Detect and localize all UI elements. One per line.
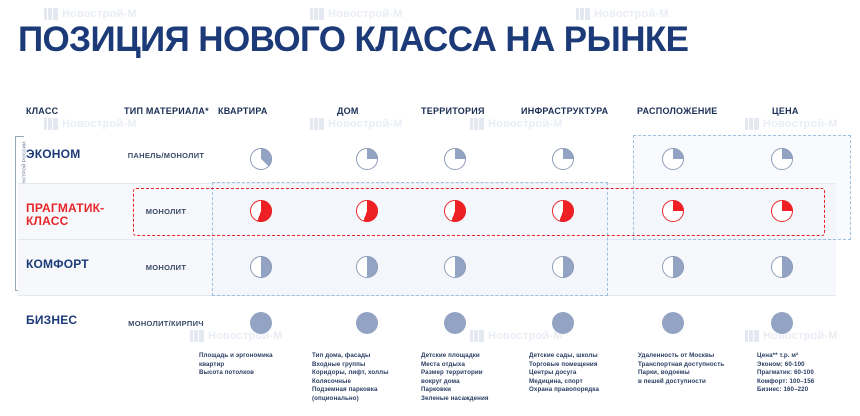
watermark-logo-icon xyxy=(190,330,204,342)
pie-ring xyxy=(771,256,793,278)
watermark-logo-icon xyxy=(470,118,484,130)
pie-ring xyxy=(771,312,793,334)
watermark-logo-icon xyxy=(745,118,759,130)
rating-komfort-territory xyxy=(444,256,466,278)
rating-biznes-location xyxy=(662,312,684,334)
row-label-komfort: КОМФОРТ xyxy=(26,258,89,271)
column-header-price: ЦЕНА xyxy=(772,106,799,116)
watermark: Новострой-М xyxy=(190,330,283,342)
pie-ring xyxy=(356,312,378,334)
watermark-logo-icon xyxy=(44,118,58,130)
rating-pragmatik-house xyxy=(356,200,378,222)
pie-ring xyxy=(552,312,574,334)
footnote-price: Цена** т.р. м² Эконом: 60-100 Прагматик:… xyxy=(757,352,857,395)
watermark: Новострой-М xyxy=(44,118,137,130)
watermark-logo-icon xyxy=(44,8,58,20)
watermark: Новострой-М xyxy=(44,8,137,20)
watermark: Новострой-М xyxy=(310,8,403,20)
rating-pragmatik-price xyxy=(771,200,793,222)
pie-ring xyxy=(662,256,684,278)
rating-ekonom-apartment xyxy=(250,148,272,170)
rating-pragmatik-apartment xyxy=(250,200,272,222)
pie-ring xyxy=(552,256,574,278)
rating-ekonom-location xyxy=(662,148,684,170)
pie-ring xyxy=(250,256,272,278)
watermark: Новострой-М xyxy=(576,8,669,20)
watermark-logo-icon xyxy=(310,118,324,130)
watermark: Новострой-М xyxy=(745,330,838,342)
pie-ring xyxy=(444,312,466,334)
row-label-pragmatik: ПРАГМАТИК- КЛАСС xyxy=(26,202,104,228)
pie-ring xyxy=(250,200,272,222)
rating-komfort-house xyxy=(356,256,378,278)
rating-komfort-infrastructure xyxy=(552,256,574,278)
watermark: Новострой-М xyxy=(470,118,563,130)
pie-ring xyxy=(771,148,793,170)
pie-ring xyxy=(444,200,466,222)
pie-ring xyxy=(662,148,684,170)
footnote-infrastructure: Детские сады, школы Торговые помещения Ц… xyxy=(529,352,639,395)
rating-biznes-apartment xyxy=(250,312,272,334)
column-header-location: РАСПОЛОЖЕНИЕ xyxy=(637,106,718,116)
pie-ring xyxy=(444,148,466,170)
column-header-house: ДОМ xyxy=(337,106,359,116)
pie-ring xyxy=(552,200,574,222)
row-divider xyxy=(18,239,836,240)
rating-ekonom-house xyxy=(356,148,378,170)
pie-ring xyxy=(552,148,574,170)
watermark: Новострой-М xyxy=(310,118,403,130)
rating-biznes-territory xyxy=(444,312,466,334)
column-header-apartment: КВАРТИРА xyxy=(218,106,268,116)
watermark-logo-icon xyxy=(576,8,590,20)
column-header-territory: ТЕРРИТОРИЯ xyxy=(421,106,485,116)
pie-ring xyxy=(356,148,378,170)
pie-ring xyxy=(356,256,378,278)
row-divider xyxy=(18,295,836,296)
footnote-apartment: Площадь и эргономика квартир Высота пото… xyxy=(199,352,309,378)
row-label-biznes: БИЗНЕС xyxy=(26,314,77,327)
page-title: ПОЗИЦИЯ НОВОГО КЛАССА НА РЫНКЕ xyxy=(18,20,688,60)
rating-pragmatik-location xyxy=(662,200,684,222)
pie-ring xyxy=(662,312,684,334)
rating-komfort-location xyxy=(662,256,684,278)
row-divider xyxy=(18,183,836,184)
pie-ring xyxy=(356,200,378,222)
footnote-house: Тип дома, фасады Входные группы Коридоры… xyxy=(312,352,422,404)
pie-ring xyxy=(771,200,793,222)
pie-ring xyxy=(444,256,466,278)
watermark-logo-icon xyxy=(745,330,759,342)
watermark-logo-icon xyxy=(310,8,324,20)
infographic-root: Новострой-М Новострой-М Новострой-М Ново… xyxy=(0,0,860,416)
rating-biznes-price xyxy=(771,312,793,334)
rating-pragmatik-territory xyxy=(444,200,466,222)
rating-biznes-house xyxy=(356,312,378,334)
pie-ring xyxy=(250,148,272,170)
rating-komfort-price xyxy=(771,256,793,278)
footnote-location: Удаленность от Москвы Транспортная досту… xyxy=(638,352,753,386)
column-header-infrastructure: ИНФРАСТРУКТУРА xyxy=(521,106,608,116)
material-komfort: МОНОЛИТ xyxy=(124,263,208,272)
material-ekonom: ПАНЕЛЬ/МОНОЛИТ xyxy=(124,151,208,160)
material-pragmatik: МОНОЛИТ xyxy=(124,207,208,216)
pie-ring xyxy=(662,200,684,222)
row-label-ekonom: ЭКОНОМ xyxy=(26,148,80,161)
column-header-class: КЛАСС xyxy=(26,106,58,116)
rating-biznes-infrastructure xyxy=(552,312,574,334)
rating-ekonom-infrastructure xyxy=(552,148,574,170)
footnote-territory: Детские площадки Места отдыха Размер тер… xyxy=(421,352,531,404)
material-biznes: МОНОЛИТ/КИРПИЧ xyxy=(124,319,208,328)
rating-pragmatik-infrastructure xyxy=(552,200,574,222)
column-header-material: ТИП МАТЕРИАЛА* xyxy=(124,106,209,116)
watermark: Новострой-М xyxy=(745,118,838,130)
pie-ring xyxy=(250,312,272,334)
rating-komfort-apartment xyxy=(250,256,272,278)
rating-ekonom-price xyxy=(771,148,793,170)
rating-ekonom-territory xyxy=(444,148,466,170)
watermark-logo-icon xyxy=(470,330,484,342)
watermark: Новострой-М xyxy=(470,330,563,342)
